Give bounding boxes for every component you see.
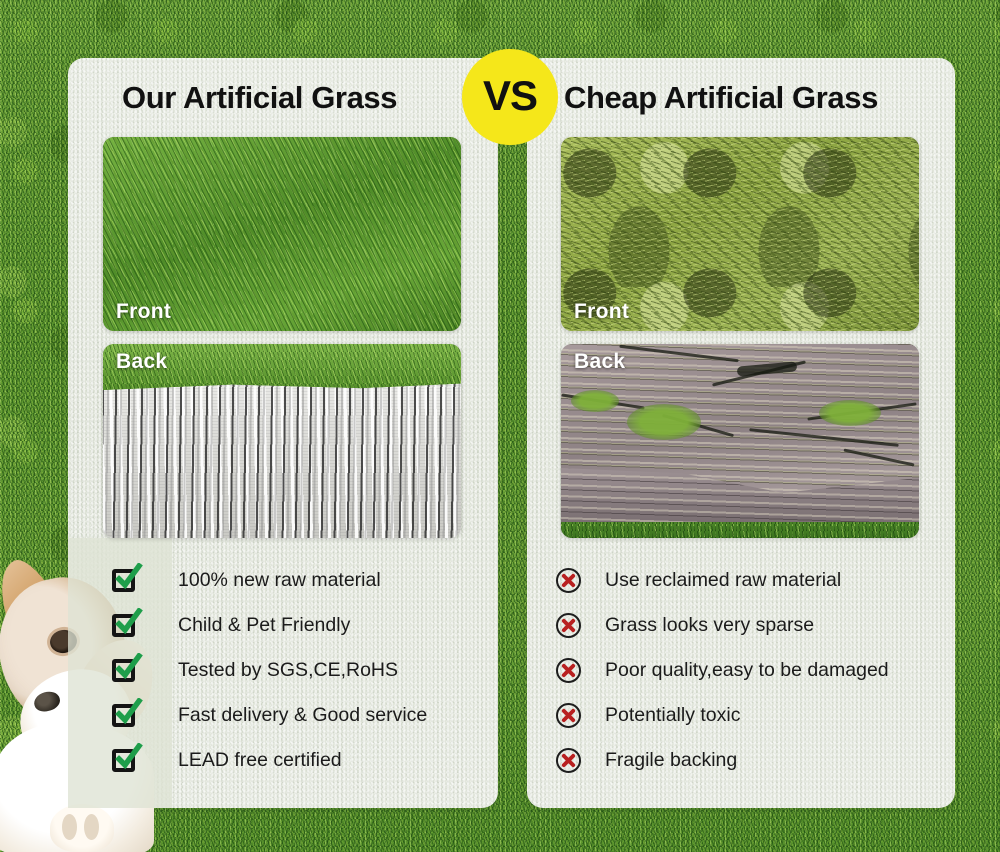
list-item: LEAD free certified [112, 738, 472, 783]
left-back-label: Back [116, 350, 167, 374]
feature-text: Fragile backing [605, 749, 737, 772]
list-item: Poor quality,easy to be damaged [556, 648, 946, 693]
feature-text: Child & Pet Friendly [178, 614, 350, 637]
list-item: Fast delivery & Good service [112, 693, 472, 738]
right-back-label: Back [574, 350, 625, 374]
vs-badge: VS [462, 49, 558, 145]
check-icon [112, 659, 135, 682]
cross-icon [556, 658, 581, 683]
left-back-image: Back [103, 344, 461, 538]
list-item: Child & Pet Friendly [112, 603, 472, 648]
cross-icon [556, 613, 581, 638]
feature-text: Tested by SGS,CE,RoHS [178, 659, 398, 682]
feature-text: Fast delivery & Good service [178, 704, 427, 727]
list-item: Tested by SGS,CE,RoHS [112, 648, 472, 693]
left-front-label: Front [116, 300, 171, 324]
check-icon [112, 704, 135, 727]
feature-text: Use reclaimed raw material [605, 569, 841, 592]
right-back-image: Back [561, 344, 919, 538]
infographic-canvas: Our Artificial Grass Cheap Artificial Gr… [0, 0, 1000, 852]
check-icon [112, 569, 135, 592]
feature-text: Grass looks very sparse [605, 614, 814, 637]
list-item: Use reclaimed raw material [556, 558, 946, 603]
moss-patch [819, 400, 881, 426]
list-item: Fragile backing [556, 738, 946, 783]
left-heading: Our Artificial Grass [122, 80, 397, 116]
moss-patch [571, 390, 619, 412]
feature-text: Potentially toxic [605, 704, 740, 727]
right-heading: Cheap Artificial Grass [564, 80, 878, 116]
list-item: Potentially toxic [556, 693, 946, 738]
cross-icon [556, 748, 581, 773]
feature-text: Poor quality,easy to be damaged [605, 659, 889, 682]
left-feature-list: 100% new raw material Child & Pet Friend… [112, 558, 472, 783]
list-item: 100% new raw material [112, 558, 472, 603]
feature-text: LEAD free certified [178, 749, 342, 772]
left-front-image: Front [103, 137, 461, 331]
vs-badge-label: VS [483, 75, 537, 117]
right-feature-list: Use reclaimed raw material Grass looks v… [556, 558, 946, 783]
feature-text: 100% new raw material [178, 569, 381, 592]
cross-icon [556, 703, 581, 728]
cross-icon [556, 568, 581, 593]
check-icon [112, 749, 135, 772]
right-front-image: Front [561, 137, 919, 331]
moss-patch [627, 404, 701, 440]
list-item: Grass looks very sparse [556, 603, 946, 648]
check-icon [112, 614, 135, 637]
right-front-label: Front [574, 300, 629, 324]
